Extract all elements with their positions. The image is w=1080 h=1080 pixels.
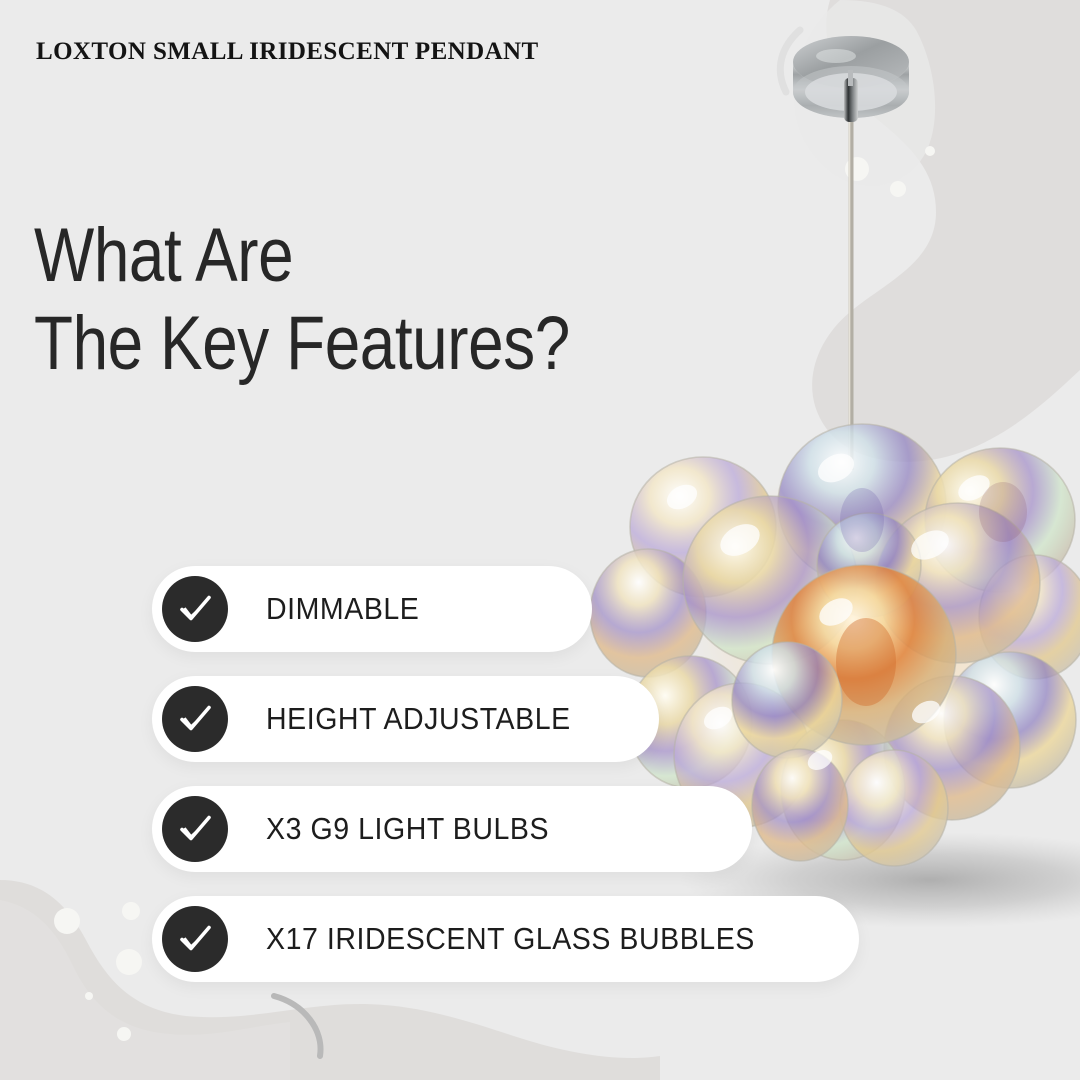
check-icon	[162, 576, 228, 642]
feature-label: DIMMABLE	[266, 591, 419, 627]
feature-item-glass-bubbles[interactable]: X17 IRIDESCENT GLASS BUBBLES	[152, 896, 859, 982]
feature-item-dimmable[interactable]: DIMMABLE	[152, 566, 592, 652]
page-title: What Are The Key Features?	[34, 212, 570, 388]
headline-line-2: The Key Features?	[34, 300, 570, 388]
check-icon	[162, 796, 228, 862]
feature-label: X17 IRIDESCENT GLASS BUBBLES	[266, 921, 755, 957]
product-title: LOXTON SMALL IRIDESCENT PENDANT	[36, 38, 539, 66]
feature-label: X3 G9 LIGHT BULBS	[266, 811, 549, 847]
headline-line-1: What Are	[34, 212, 570, 300]
feature-item-light-bulbs[interactable]: X3 G9 LIGHT BULBS	[152, 786, 752, 872]
check-icon	[162, 906, 228, 972]
feature-item-height-adjustable[interactable]: HEIGHT ADJUSTABLE	[152, 676, 659, 762]
feature-label: HEIGHT ADJUSTABLE	[266, 701, 571, 737]
check-icon	[162, 686, 228, 752]
feature-list: DIMMABLE HEIGHT ADJUSTABLE X3 G9 LIGHT B…	[152, 566, 859, 1006]
